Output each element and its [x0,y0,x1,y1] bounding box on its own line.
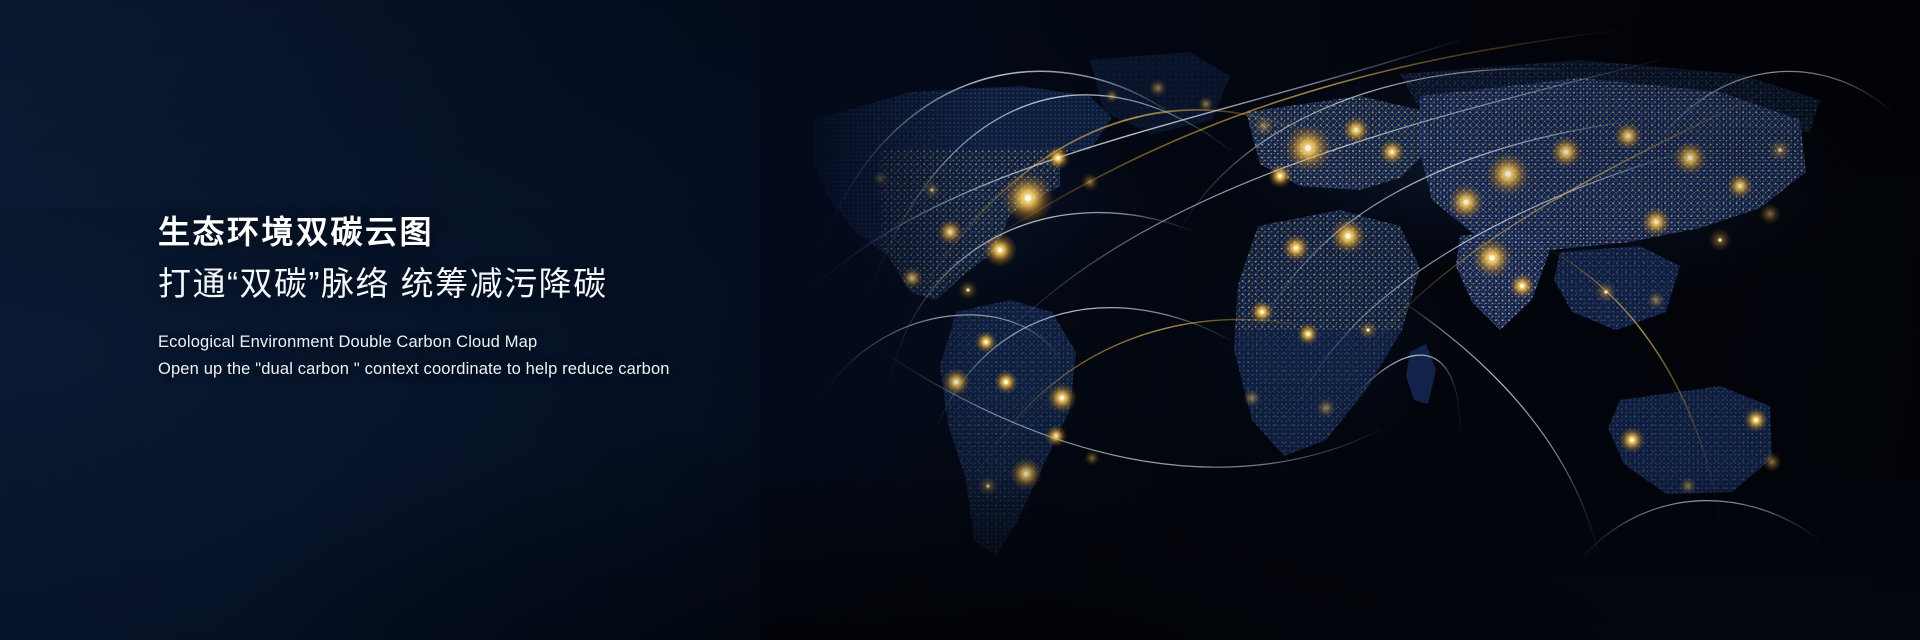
carbon-cloud-map-banner: 生态环境双碳云图 打通“双碳”脉络 统筹减污降碳 Ecological Envi… [0,0,1920,640]
description-line-1: Ecological Environment Double Carbon Clo… [158,329,798,356]
banner-text-block: 生态环境双碳云图 打通“双碳”脉络 统筹减污降碳 Ecological Envi… [158,214,798,383]
page-subtitle: 打通“双碳”脉络 统筹减污降碳 [158,264,798,304]
page-title: 生态环境双碳云图 [158,214,798,252]
description-line-2: Open up the "dual carbon " context coord… [158,356,798,383]
